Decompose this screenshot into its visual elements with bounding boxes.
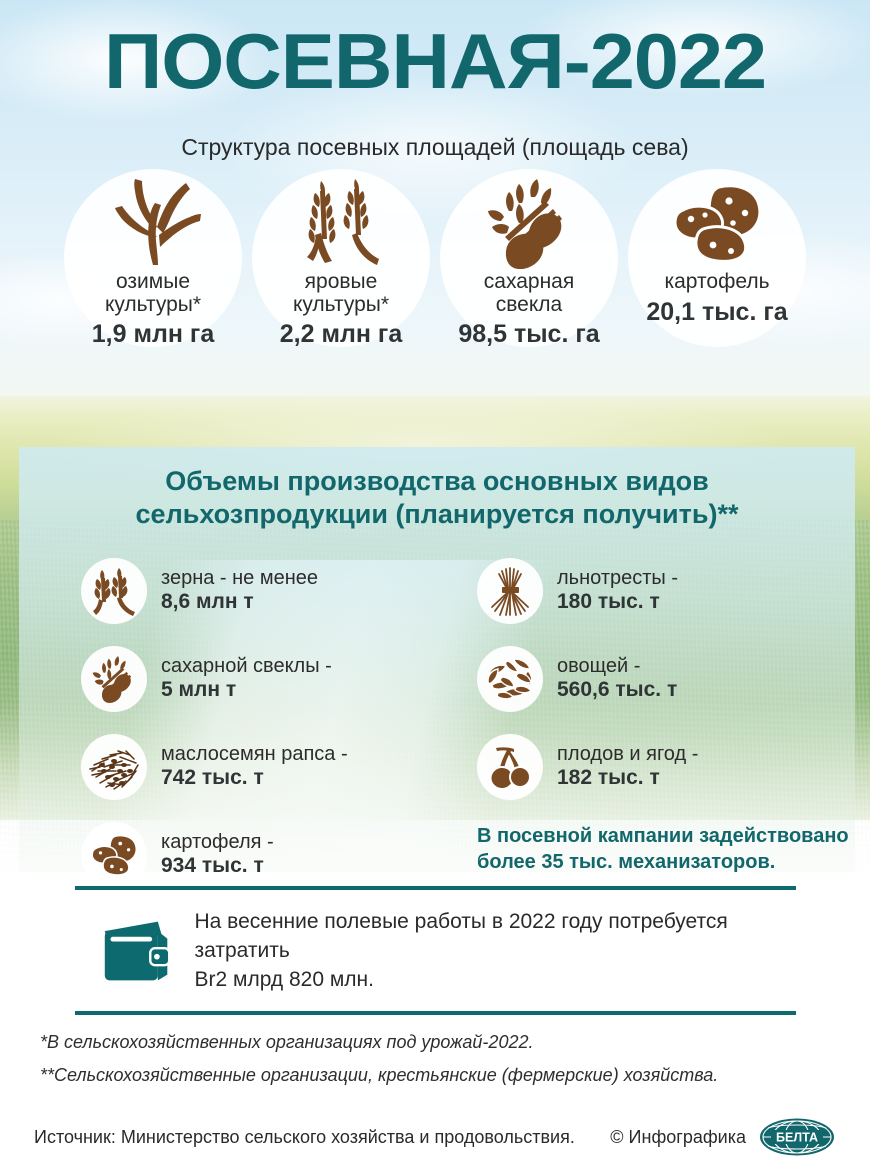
crop-value: 2,2 млн га (251, 320, 431, 349)
prod-label: овощей - (557, 655, 677, 678)
spring-crops-icon (251, 175, 431, 271)
prod-disc (81, 822, 147, 888)
crop-name-line1: озимые (116, 270, 190, 293)
production-column-right: льнотресты - 180 тыс. т (437, 547, 855, 899)
production-panel: Объемы производства основных видов сельх… (19, 447, 855, 872)
crop-name-line1: яровые (305, 270, 378, 293)
crop-value: 20,1 тыс. га (627, 298, 807, 327)
rapeseed-icon (86, 741, 142, 793)
footnote-1: *В сельскохозяйственных организациях под… (40, 1032, 718, 1053)
vegetables-icon (484, 655, 536, 703)
prod-text: зерна - не менее 8,6 млн т (161, 567, 318, 615)
footnote-2: **Сельскохозяйственные организации, крес… (40, 1065, 718, 1086)
divider-bottom (75, 1011, 796, 1015)
prod-label: зерна - не менее (161, 567, 318, 590)
crop-name: сахарная свекла (439, 271, 619, 316)
budget-text: На весенние полевые работы в 2022 году п… (195, 908, 796, 995)
wallet-icon (101, 916, 173, 986)
prod-text: картофеля - 934 тыс. т (161, 831, 274, 879)
list-item: зерна - не менее 8,6 млн т (81, 547, 437, 635)
prod-text: льнотресты - 180 тыс. т (557, 567, 678, 615)
potato-icon (88, 832, 140, 878)
prod-value: 560,6 тыс. т (557, 678, 677, 702)
credit-block: © Инфографика БЕЛТА (610, 1117, 836, 1157)
prod-disc (477, 558, 543, 624)
crop-name: картофель (627, 271, 807, 294)
belta-logo-text: БЕЛТА (776, 1131, 818, 1145)
panel-title-line1: Объемы производства основных видов (165, 466, 709, 496)
production-column-left: зерна - не менее 8,6 млн т (19, 547, 437, 899)
flax-sheaf-icon (486, 565, 534, 617)
prod-label: льнотресты - (557, 567, 678, 590)
crop-name-line2: культуры* (105, 293, 201, 316)
crop-name-line2: культуры* (293, 293, 389, 316)
list-item: льнотресты - 180 тыс. т (477, 547, 855, 635)
sugar-beet-icon (88, 653, 140, 705)
footnotes: *В сельскохозяйственных организациях под… (40, 1032, 718, 1098)
potato-icon (627, 175, 807, 271)
credit-text: © Инфографика (610, 1127, 746, 1148)
production-grid: зерна - не менее 8,6 млн т (19, 531, 855, 899)
sugar-beet-icon (439, 175, 619, 271)
prod-label: картофеля - (161, 831, 274, 854)
mechanics-note-line2: более 35 тыс. механизаторов. (477, 851, 775, 873)
prod-label: сахарной свеклы - (161, 655, 332, 678)
crop-name-line1: сахарная (484, 270, 574, 293)
prod-value: 5 млн т (161, 678, 332, 702)
prod-text: маслосемян рапса - 742 тыс. т (161, 743, 348, 791)
crop-name-line1: картофель (664, 270, 769, 293)
crop-card-potato: картофель 20,1 тыс. га (627, 175, 807, 349)
crop-value: 98,5 тыс. га (439, 320, 619, 349)
prod-disc (81, 646, 147, 712)
crop-card-sugar-beet: сахарная свекла 98,5 тыс. га (439, 175, 619, 349)
page-title: ПОСЕВНАЯ-2022 (0, 0, 870, 100)
crop-name: яровые культуры* (251, 271, 431, 316)
prod-label: маслосемян рапса - (161, 743, 348, 766)
prod-value: 182 тыс. т (557, 766, 698, 790)
wheat-ears-icon (89, 566, 139, 616)
prod-value: 934 тыс. т (161, 854, 274, 878)
budget-row: На весенние полевые работы в 2022 году п… (75, 890, 796, 1011)
list-item: овощей - 560,6 тыс. т (477, 635, 855, 723)
crop-name-line2: свекла (496, 293, 562, 316)
footer: Источник: Министерство сельского хозяйст… (0, 1117, 870, 1157)
crop-value: 1,9 млн га (63, 320, 243, 349)
prod-label: плодов и ягод - (557, 743, 698, 766)
crop-card-winter: озимые культуры* 1,9 млн га (63, 175, 243, 349)
prod-disc (81, 558, 147, 624)
panel-title-line2: сельхозпродукции (планируется получить)*… (136, 499, 739, 529)
prod-disc (477, 734, 543, 800)
prod-disc (477, 646, 543, 712)
cherries-icon (486, 742, 534, 792)
prod-text: сахарной свеклы - 5 млн т (161, 655, 332, 703)
crop-areas-row: озимые культуры* 1,9 млн га (0, 175, 870, 349)
prod-value: 8,6 млн т (161, 590, 318, 614)
winter-crops-icon (63, 175, 243, 271)
mechanics-note: В посевной кампании задействовано более … (477, 823, 855, 875)
production-panel-title: Объемы производства основных видов сельх… (19, 447, 855, 531)
prod-value: 742 тыс. т (161, 766, 348, 790)
belta-logo: БЕЛТА (758, 1117, 836, 1157)
budget-line2: Br2 млрд 820 млн. (195, 968, 374, 991)
prod-text: овощей - 560,6 тыс. т (557, 655, 677, 703)
prod-text: плодов и ягод - 182 тыс. т (557, 743, 698, 791)
prod-disc (81, 734, 147, 800)
list-item: маслосемян рапса - 742 тыс. т (81, 723, 437, 811)
prod-value: 180 тыс. т (557, 590, 678, 614)
budget-line1: На весенние полевые работы в 2022 году п… (195, 910, 728, 962)
budget-section: На весенние полевые работы в 2022 году п… (0, 886, 870, 1015)
crop-name: озимые культуры* (63, 271, 243, 316)
page-subtitle: Структура посевных площадей (площадь сев… (0, 134, 870, 161)
list-item: сахарной свеклы - 5 млн т (81, 635, 437, 723)
list-item: плодов и ягод - 182 тыс. т (477, 723, 855, 811)
mechanics-note-line1: В посевной кампании задействовано (477, 825, 849, 847)
crop-card-spring: яровые культуры* 2,2 млн га (251, 175, 431, 349)
source-text: Источник: Министерство сельского хозяйст… (34, 1127, 575, 1148)
